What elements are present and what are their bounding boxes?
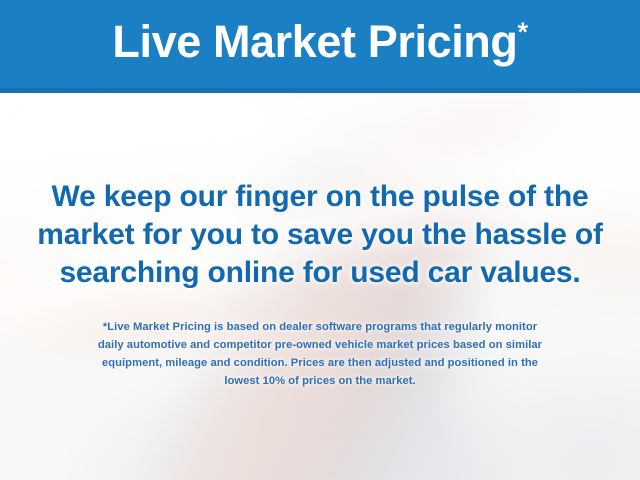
live-market-pricing-slide: Live Market Pricing* We keep our finger … bbox=[0, 0, 640, 480]
banner-title-asterisk: * bbox=[517, 17, 527, 47]
banner-title: Live Market Pricing* bbox=[112, 19, 527, 70]
disclaimer-line-3: equipment, mileage and condition. Prices… bbox=[22, 354, 618, 372]
disclaimer: *Live Market Pricing is based on dealer … bbox=[22, 318, 618, 390]
disclaimer-line-4: lowest 10% of prices on the market. bbox=[22, 372, 618, 390]
headline-line-1: We keep our finger on the pulse of the bbox=[0, 178, 640, 216]
headline-line-3: searching online for used car values. bbox=[0, 254, 640, 292]
disclaimer-line-2: daily automotive and competitor pre-owne… bbox=[22, 336, 618, 354]
disclaimer-line-1: *Live Market Pricing is based on dealer … bbox=[22, 318, 618, 336]
headline-line-2: market for you to save you the hassle of bbox=[0, 216, 640, 254]
header-banner: Live Market Pricing* bbox=[0, 0, 640, 93]
banner-title-text: Live Market Pricing bbox=[112, 16, 517, 67]
headline: We keep our finger on the pulse of the m… bbox=[0, 178, 640, 292]
